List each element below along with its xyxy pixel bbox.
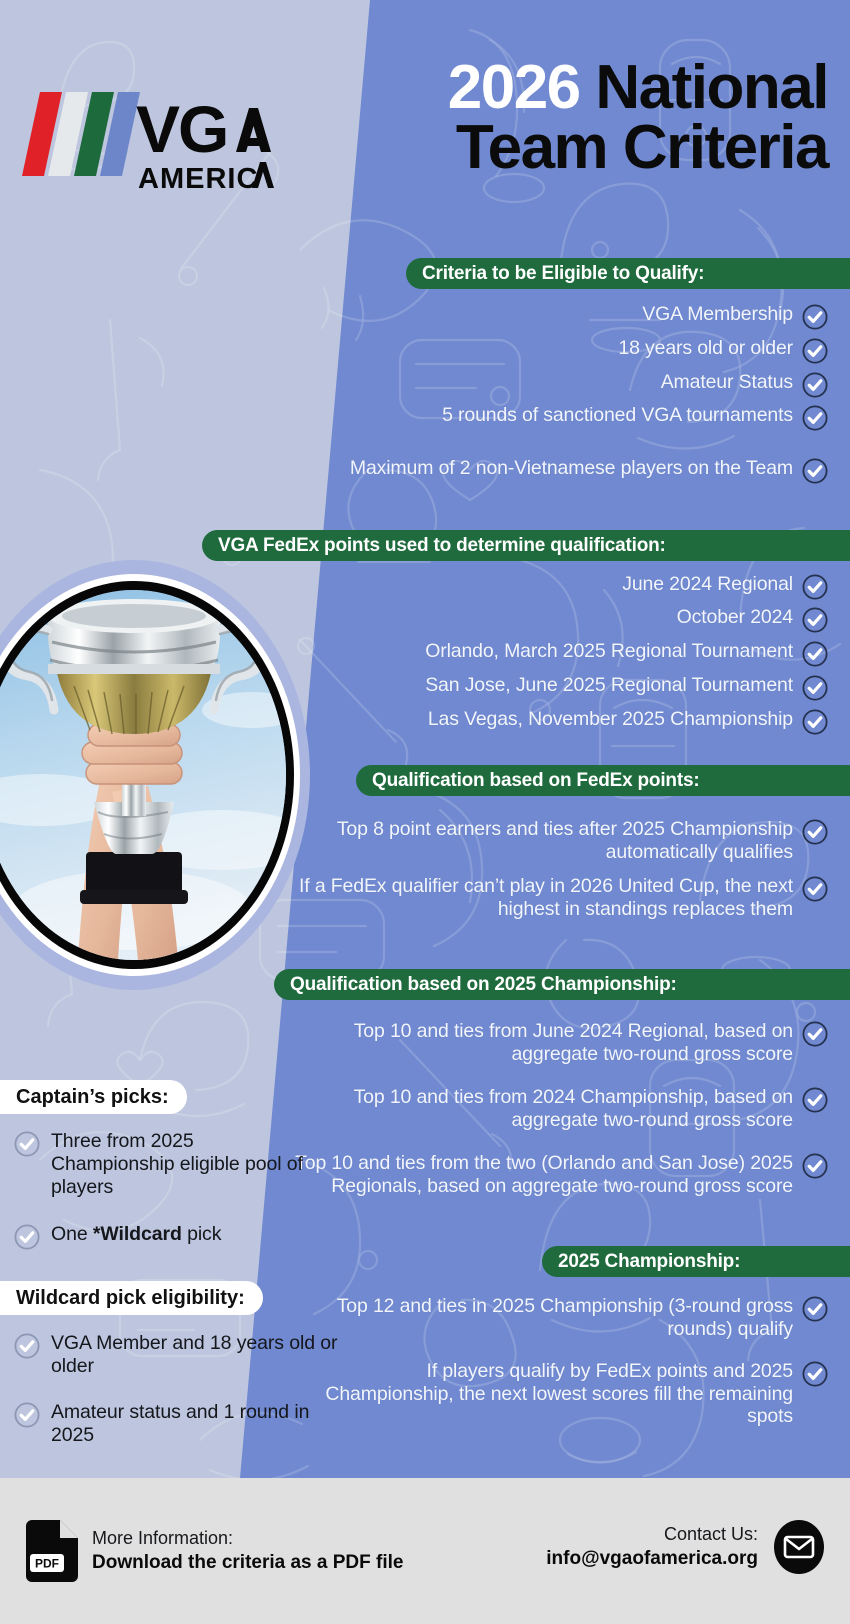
check-circle-icon bbox=[14, 1402, 40, 1428]
list-item: Amateur Status bbox=[308, 371, 828, 398]
more-information-text: More Information: Download the criteria … bbox=[92, 1526, 403, 1576]
criteria-text: Las Vegas, November 2025 Championship bbox=[428, 708, 793, 731]
criteria-text: Top 10 and ties from June 2024 Regional,… bbox=[268, 1020, 793, 1065]
check-circle-icon bbox=[802, 372, 828, 398]
section-heading-wildcard-eligibility: Wildcard pick eligibility: bbox=[0, 1281, 263, 1315]
more-information-label: More Information: bbox=[92, 1526, 403, 1550]
contact-us-label: Contact Us: bbox=[546, 1522, 758, 1546]
list-item: Maximum of 2 non-Vietnamese players on t… bbox=[308, 457, 828, 484]
check-circle-icon bbox=[802, 641, 828, 667]
check-circle-icon bbox=[802, 876, 828, 902]
check-circle-icon bbox=[802, 1296, 828, 1322]
criteria-text: October 2024 bbox=[677, 606, 793, 629]
list-item: Three from 2025 Championship eligible po… bbox=[14, 1130, 314, 1199]
check-circle-icon bbox=[802, 607, 828, 633]
list-item: Las Vegas, November 2025 Championship bbox=[188, 708, 828, 735]
section-heading-qual-champ: Qualification based on 2025 Championship… bbox=[274, 969, 850, 1000]
page-title: 2026 National Team Criteria bbox=[298, 58, 828, 177]
check-circle-icon bbox=[802, 1087, 828, 1113]
list-item: If a FedEx qualifier can’t play in 2026 … bbox=[288, 875, 828, 920]
check-circle-icon bbox=[802, 338, 828, 364]
download-pdf-link[interactable]: Download the criteria as a PDF file bbox=[92, 1550, 403, 1576]
wildcard-bold: *Wildcard bbox=[93, 1223, 182, 1245]
check-circle-icon bbox=[14, 1224, 40, 1250]
svg-text:VG: VG bbox=[136, 92, 227, 166]
infographic-poster: VG AMERIC 2026 National Team Criteria bbox=[0, 0, 850, 1624]
list-item: Top 10 and ties from the two (Orlando an… bbox=[268, 1152, 828, 1197]
list-item: If players qualify by FedEx points and 2… bbox=[308, 1360, 828, 1428]
criteria-text: San Jose, June 2025 Regional Tournament bbox=[425, 674, 793, 697]
list-item: Top 10 and ties from 2024 Championship, … bbox=[268, 1086, 828, 1131]
check-circle-icon bbox=[802, 675, 828, 701]
criteria-text: Top 10 and ties from the two (Orlando an… bbox=[268, 1152, 793, 1197]
title-line2: Team Criteria bbox=[456, 113, 828, 182]
criteria-text: Top 12 and ties in 2025 Championship (3-… bbox=[308, 1295, 793, 1340]
criteria-text: If players qualify by FedEx points and 2… bbox=[308, 1360, 793, 1428]
contact-us-text: Contact Us: info@vgaofamerica.org bbox=[546, 1522, 758, 1572]
contact-email-link[interactable]: info@vgaofamerica.org bbox=[546, 1546, 758, 1572]
list-item: Amateur status and 1 round in 2025 bbox=[14, 1401, 344, 1447]
criteria-text: Three from 2025 Championship eligible po… bbox=[51, 1130, 314, 1199]
section-heading-fedex-points: VGA FedEx points used to determine quali… bbox=[202, 530, 850, 561]
list-item: Top 12 and ties in 2025 Championship (3-… bbox=[308, 1295, 828, 1340]
criteria-text: Maximum of 2 non-Vietnamese players on t… bbox=[350, 457, 793, 480]
list-item: San Jose, June 2025 Regional Tournament bbox=[188, 674, 828, 701]
wildcard-pre: One bbox=[51, 1223, 93, 1245]
check-circle-icon bbox=[802, 1361, 828, 1387]
list-item: VGA Membership bbox=[308, 303, 828, 330]
check-circle-icon bbox=[802, 709, 828, 735]
check-circle-icon bbox=[802, 405, 828, 431]
envelope-icon[interactable] bbox=[772, 1520, 826, 1574]
criteria-text: VGA Member and 18 years old or older bbox=[51, 1332, 344, 1378]
list-item: October 2024 bbox=[188, 606, 828, 633]
pdf-badge-label: PDF bbox=[35, 1557, 59, 1571]
criteria-text: One *Wildcard pick bbox=[51, 1223, 221, 1246]
criteria-text: June 2024 Regional bbox=[622, 573, 793, 596]
list-item: Orlando, March 2025 Regional Tournament bbox=[188, 640, 828, 667]
criteria-text: Amateur status and 1 round in 2025 bbox=[51, 1401, 344, 1447]
list-item: Top 8 point earners and ties after 2025 … bbox=[288, 818, 828, 863]
poster-footer: PDF More Information: Download the crite… bbox=[0, 1478, 850, 1624]
check-circle-icon bbox=[14, 1131, 40, 1157]
svg-text:AMERIC: AMERIC bbox=[138, 163, 258, 195]
list-item: Top 10 and ties from June 2024 Regional,… bbox=[268, 1020, 828, 1065]
check-circle-icon bbox=[802, 1021, 828, 1047]
criteria-text: Top 10 and ties from 2024 Championship, … bbox=[268, 1086, 793, 1131]
section-heading-qual-fedex: Qualification based on FedEx points: bbox=[356, 765, 850, 796]
check-circle-icon bbox=[14, 1333, 40, 1359]
list-item: VGA Member and 18 years old or older bbox=[14, 1332, 344, 1378]
check-circle-icon bbox=[802, 458, 828, 484]
check-circle-icon bbox=[802, 574, 828, 600]
section-heading-champ-2025: 2025 Championship: bbox=[542, 1246, 850, 1277]
criteria-text: Top 8 point earners and ties after 2025 … bbox=[288, 818, 793, 863]
list-item: 5 rounds of sanctioned VGA tournaments bbox=[308, 404, 828, 431]
criteria-text: 18 years old or older bbox=[618, 337, 793, 360]
vga-america-logo: VG AMERIC bbox=[18, 84, 280, 196]
poster-header: VG AMERIC 2026 National Team Criteria bbox=[0, 0, 850, 230]
contact-us-block[interactable]: Contact Us: info@vgaofamerica.org bbox=[546, 1520, 826, 1574]
criteria-text: Amateur Status bbox=[661, 371, 793, 394]
criteria-text: Orlando, March 2025 Regional Tournament bbox=[425, 640, 793, 663]
wildcard-post: pick bbox=[182, 1223, 222, 1245]
section-heading-eligible: Criteria to be Eligible to Qualify: bbox=[406, 258, 850, 289]
section-heading-captains-picks: Captain’s picks: bbox=[0, 1080, 187, 1114]
check-circle-icon bbox=[802, 1153, 828, 1179]
criteria-text: If a FedEx qualifier can’t play in 2026 … bbox=[288, 875, 793, 920]
more-information-block[interactable]: PDF More Information: Download the crite… bbox=[26, 1520, 403, 1582]
list-item: June 2024 Regional bbox=[188, 573, 828, 600]
check-circle-icon bbox=[802, 819, 828, 845]
criteria-text: VGA Membership bbox=[642, 303, 793, 326]
check-circle-icon bbox=[802, 304, 828, 330]
criteria-text: 5 rounds of sanctioned VGA tournaments bbox=[442, 404, 793, 427]
list-item: 18 years old or older bbox=[308, 337, 828, 364]
pdf-file-icon[interactable]: PDF bbox=[26, 1520, 78, 1582]
list-item: One *Wildcard pick bbox=[14, 1223, 314, 1250]
